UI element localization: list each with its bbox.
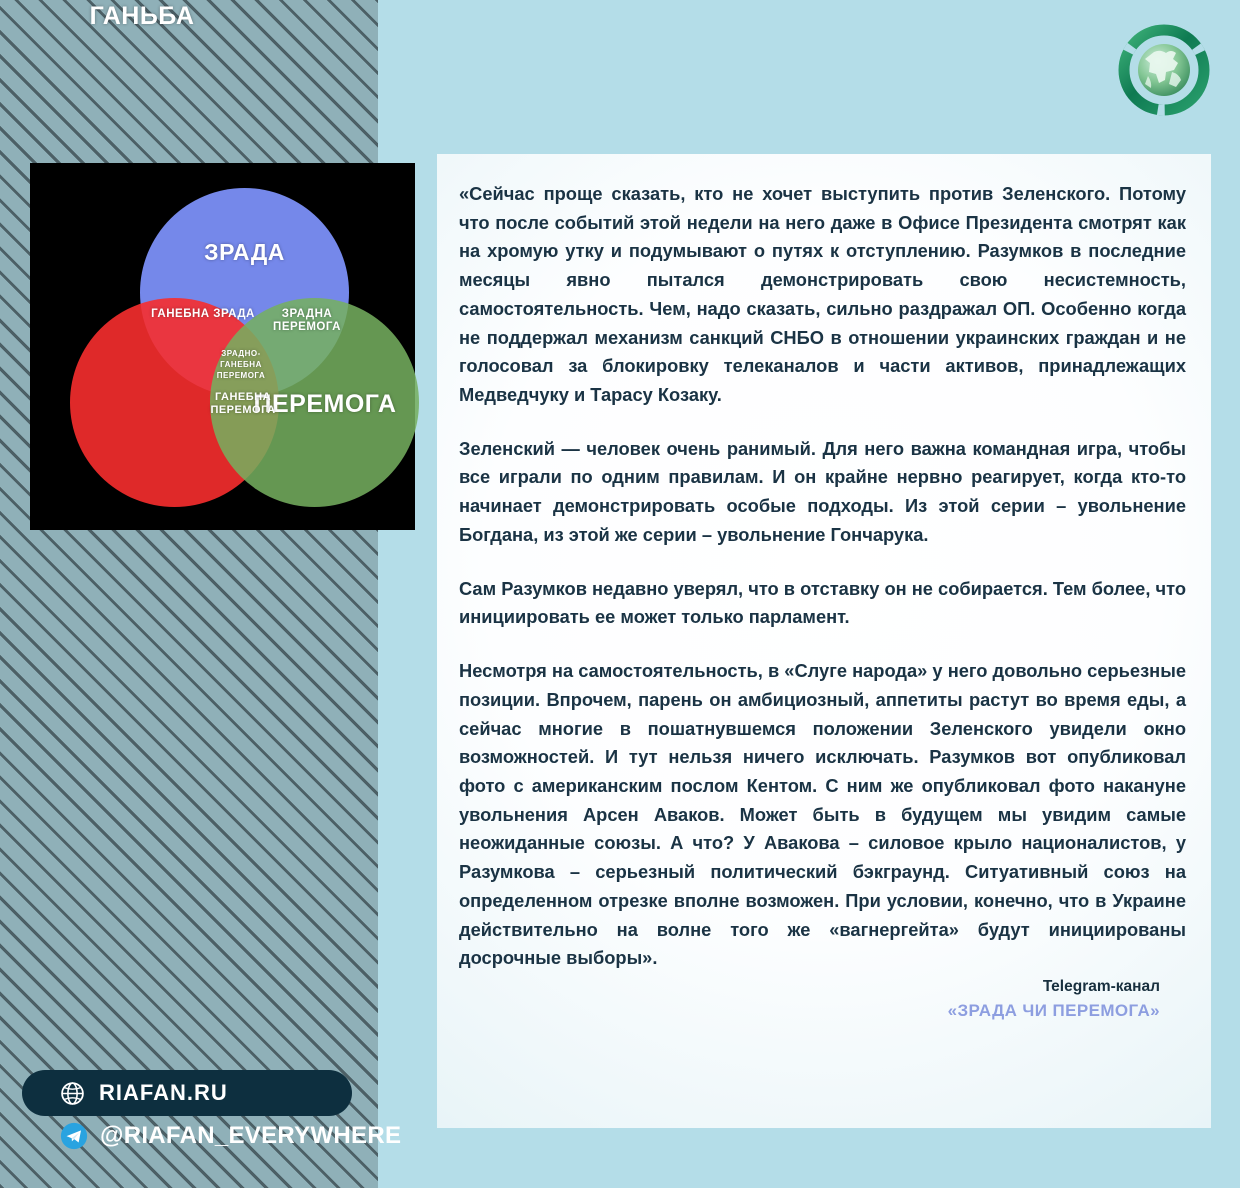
riafan-globe-logo — [1110, 16, 1218, 124]
article-panel: «Сейчас проще сказать, кто не хочет выст… — [437, 154, 1211, 1128]
venn-diagram-image: ЗРАДА ГАНЬБА ПЕРЕМОГА ГАНЕБНА ЗРАДА ЗРАД… — [30, 163, 415, 530]
signature-source-type: Telegram-канал — [459, 975, 1160, 998]
globe-icon — [60, 1081, 85, 1106]
signature-channel-name: «ЗРАДА ЧИ ПЕРЕМОГА» — [459, 998, 1160, 1024]
telegram-icon — [60, 1122, 88, 1150]
site-url-label: RIAFAN.RU — [99, 1080, 228, 1106]
site-url-pill[interactable]: RIAFAN.RU — [22, 1070, 352, 1116]
article-paragraph: Несмотря на самостоятельность, в «Слуге … — [459, 657, 1186, 973]
telegram-handle-row[interactable]: @RIAFAN_EVERYWHERE — [60, 1122, 401, 1150]
article-paragraph: Зеленский — человек очень ранимый. Для н… — [459, 435, 1186, 550]
venn-circle-peremoga — [210, 298, 419, 507]
article-body: «Сейчас проще сказать, кто не хочет выст… — [437, 154, 1211, 1025]
telegram-handle-label: @RIAFAN_EVERYWHERE — [100, 1122, 401, 1150]
article-paragraph: «Сейчас проще сказать, кто не хочет выст… — [459, 180, 1186, 410]
article-paragraph: Сам Разумков недавно уверял, что в отста… — [459, 575, 1186, 632]
article-signature: Telegram-канал «ЗРАДА ЧИ ПЕРЕМОГА» — [459, 975, 1186, 1025]
venn-stage: ЗРАДА ГАНЬБА ПЕРЕМОГА ГАНЕБНА ЗРАДА ЗРАД… — [30, 163, 415, 530]
